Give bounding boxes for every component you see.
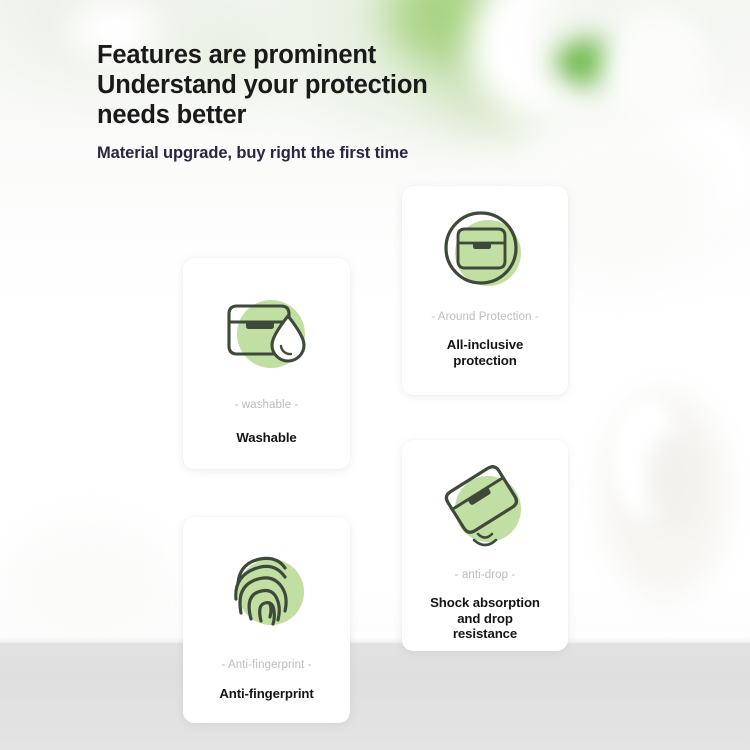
product-feature-banner: Features are prominent Understand your p… <box>0 0 750 750</box>
feature-main-label-line-2: protection <box>453 353 516 368</box>
feature-main-label-line-2: and drop <box>457 611 513 626</box>
feature-main-label: Anti-fingerprint <box>219 686 313 702</box>
case-in-circle-icon <box>433 208 537 294</box>
case-with-water-drop-icon <box>215 290 319 376</box>
page-title-line-2: Understand your protection <box>97 70 428 100</box>
page-subtitle: Material upgrade, buy right the first ti… <box>97 144 428 163</box>
feature-card-anti-drop[interactable]: - anti-drop - Shock absorption and drop … <box>402 440 568 651</box>
feature-main-label: Washable <box>236 430 296 446</box>
heading-block: Features are prominent Understand your p… <box>97 40 428 163</box>
feature-main-label-line-1: All-inclusive <box>447 337 523 352</box>
feature-sub-label: - Around Protection - <box>431 311 539 323</box>
background-gray-surface-band <box>0 643 750 750</box>
page-title-line-1: Features are prominent <box>97 40 428 70</box>
background-white-flower-blur <box>648 430 704 530</box>
feature-card-anti-fingerprint[interactable]: - Anti-fingerprint - Anti-fingerprint <box>183 517 350 723</box>
feature-main-label-line-3: resistance <box>453 626 517 641</box>
tilted-case-with-impact-waves-icon <box>433 464 537 550</box>
feature-sub-label: - anti-drop - <box>455 569 516 581</box>
fingerprint-icon <box>215 547 319 633</box>
page-title-line-3: needs better <box>97 100 428 130</box>
feature-sub-label: - washable - <box>235 399 299 411</box>
feature-sub-label: - Anti-fingerprint - <box>221 659 311 671</box>
feature-main-label: Shock absorption and drop resistance <box>430 595 540 642</box>
feature-card-washable[interactable]: - washable - Washable <box>183 258 350 469</box>
feature-main-label: All-inclusive protection <box>447 337 523 368</box>
feature-card-all-inclusive-protection[interactable]: - Around Protection - All-inclusive prot… <box>402 186 568 395</box>
feature-main-label-line-1: Shock absorption <box>430 595 540 610</box>
